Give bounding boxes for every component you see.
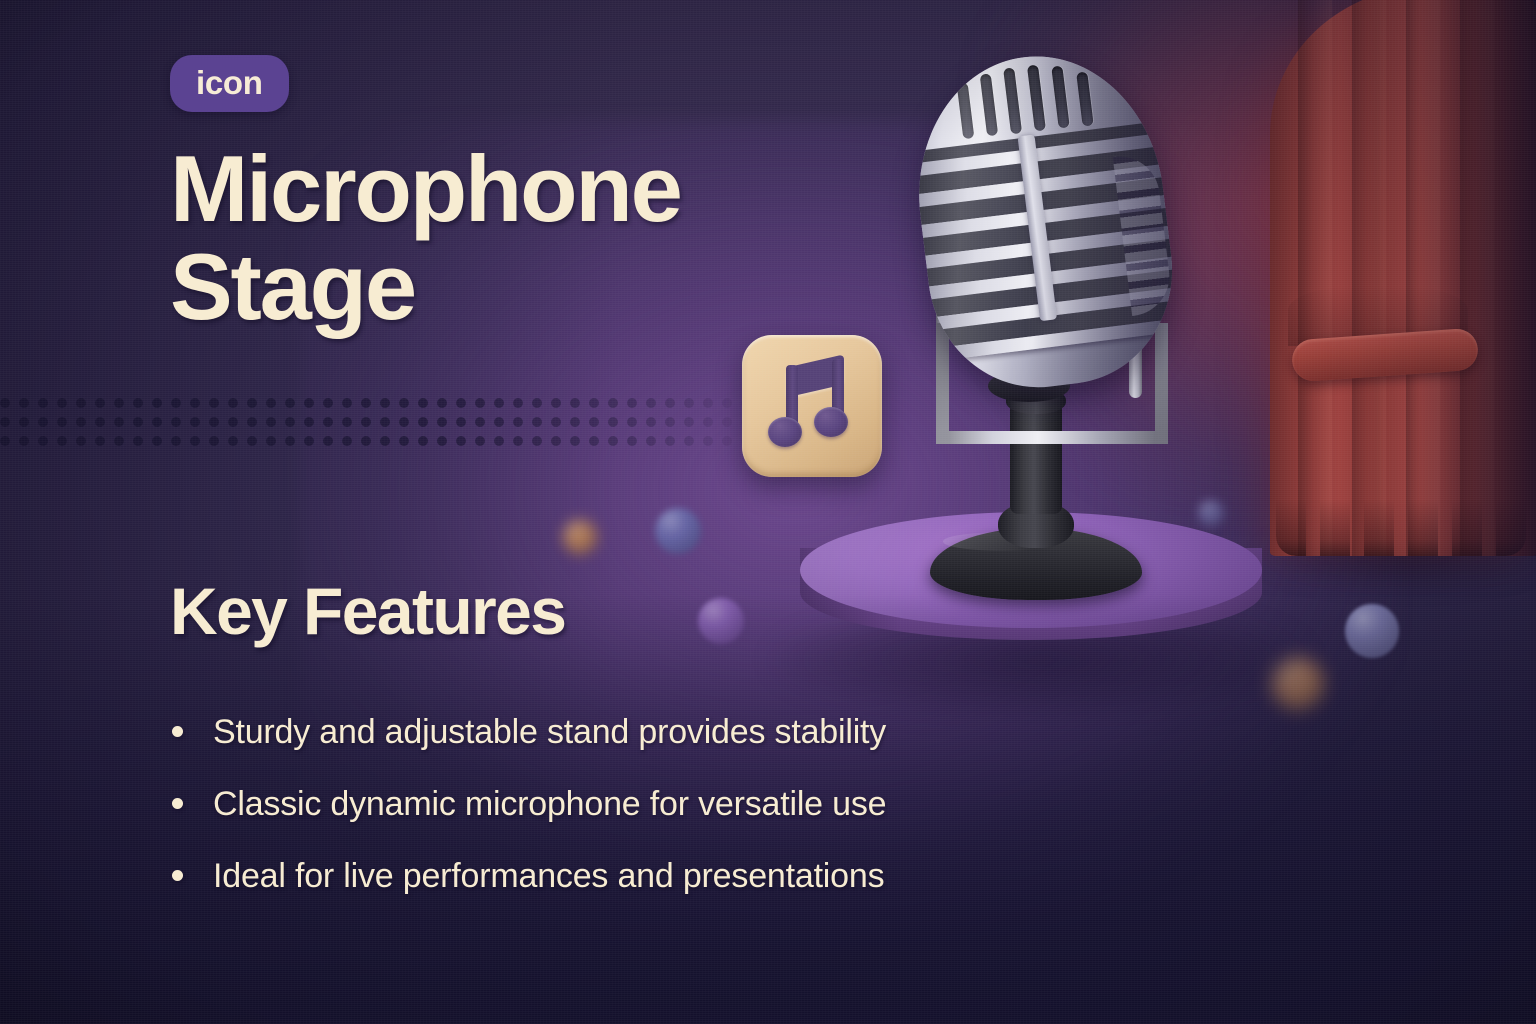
feature-item: Sturdy and adjustable stand provides sta… <box>172 712 1132 752</box>
icon-badge: icon <box>170 55 289 112</box>
page-title: Microphone Stage <box>170 140 830 336</box>
bullet-dot-icon <box>172 798 183 809</box>
feature-item: Ideal for live performances and presenta… <box>172 856 1132 896</box>
feature-item: Classic dynamic microphone for versatile… <box>172 784 1132 824</box>
title-line-1: Microphone <box>170 140 830 238</box>
features-list: Sturdy and adjustable stand provides sta… <box>172 712 1132 928</box>
feature-item-label: Sturdy and adjustable stand provides sta… <box>213 712 886 752</box>
title-line-2: Stage <box>170 238 830 336</box>
bullet-dot-icon <box>172 870 183 881</box>
poster-canvas: icon Microphone Stage Key Features Sturd… <box>0 0 1536 1024</box>
bullet-dot-icon <box>172 726 183 737</box>
feature-item-label: Classic dynamic microphone for versatile… <box>213 784 886 824</box>
features-heading: Key Features <box>170 578 565 644</box>
feature-item-label: Ideal for live performances and presenta… <box>213 856 884 896</box>
